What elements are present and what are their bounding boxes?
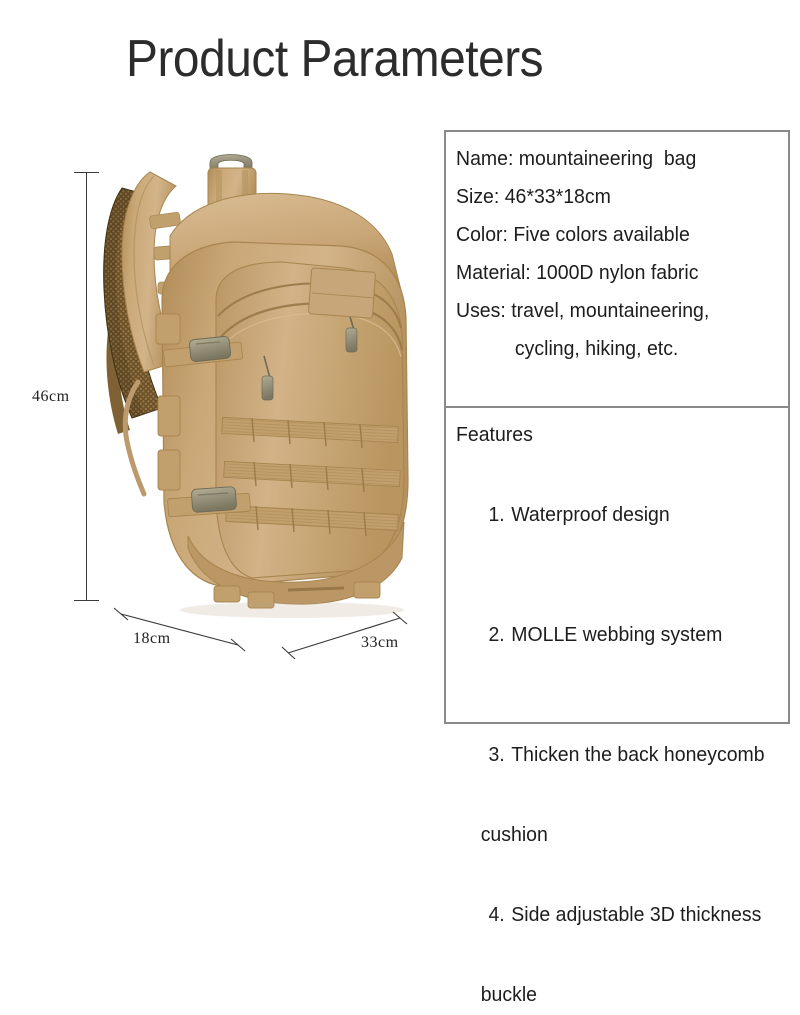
dimension-label-height: 46cm [32, 388, 70, 406]
spec-uses-continued: cycling, hiking, etc. [456, 330, 770, 368]
feature-number-2: 2. [488, 615, 511, 655]
backpack-illustration [92, 150, 442, 620]
feature-text-1: Waterproof design [511, 503, 669, 526]
feature-number-1: 1. [488, 495, 511, 535]
dimension-label-depth: 18cm [133, 630, 171, 648]
feature-item-2: 2.MOLLE webbing system [456, 575, 771, 695]
feature-text-2: MOLLE webbing system [511, 623, 722, 646]
specification-list: Name: mountaineering bag Size: 46*33*18c… [456, 140, 786, 368]
feature-number-4: 4. [488, 895, 511, 935]
feature-item-4: 4.Side adjustable 3D thickness [456, 855, 771, 975]
feature-text-3-continued: cushion [456, 815, 771, 855]
dimension-cap-height-bottom [74, 600, 99, 601]
product-parameters-page: Product Parameters [0, 0, 800, 800]
features-list: Features 1.Waterproof design 2.MOLLE web… [456, 415, 788, 1015]
features-heading: Features [456, 415, 771, 455]
feature-item-1: 1.Waterproof design [456, 455, 771, 575]
spec-size: Size: 46*33*18cm [456, 178, 770, 216]
panel-section-divider [444, 406, 790, 408]
dimension-line-height [86, 172, 87, 600]
spec-color: Color: Five colors available [456, 216, 770, 254]
spec-material: Material: 1000D nylon fabric [456, 254, 770, 292]
product-image-backpack [92, 150, 442, 620]
dimension-cap-height-top [74, 172, 99, 173]
page-title: Product Parameters [126, 29, 543, 89]
feature-text-4-continued: buckle [456, 975, 771, 1015]
spec-uses: Uses: travel, mountaineering, [456, 292, 770, 330]
spec-name: Name: mountaineering bag [456, 140, 770, 178]
feature-text-3: Thicken the back honeycomb [511, 743, 764, 766]
feature-item-3: 3.Thicken the back honeycomb [456, 695, 771, 815]
feature-number-3: 3. [488, 735, 511, 775]
dimension-label-width: 33cm [361, 634, 399, 652]
feature-text-4: Side adjustable 3D thickness [511, 903, 761, 926]
